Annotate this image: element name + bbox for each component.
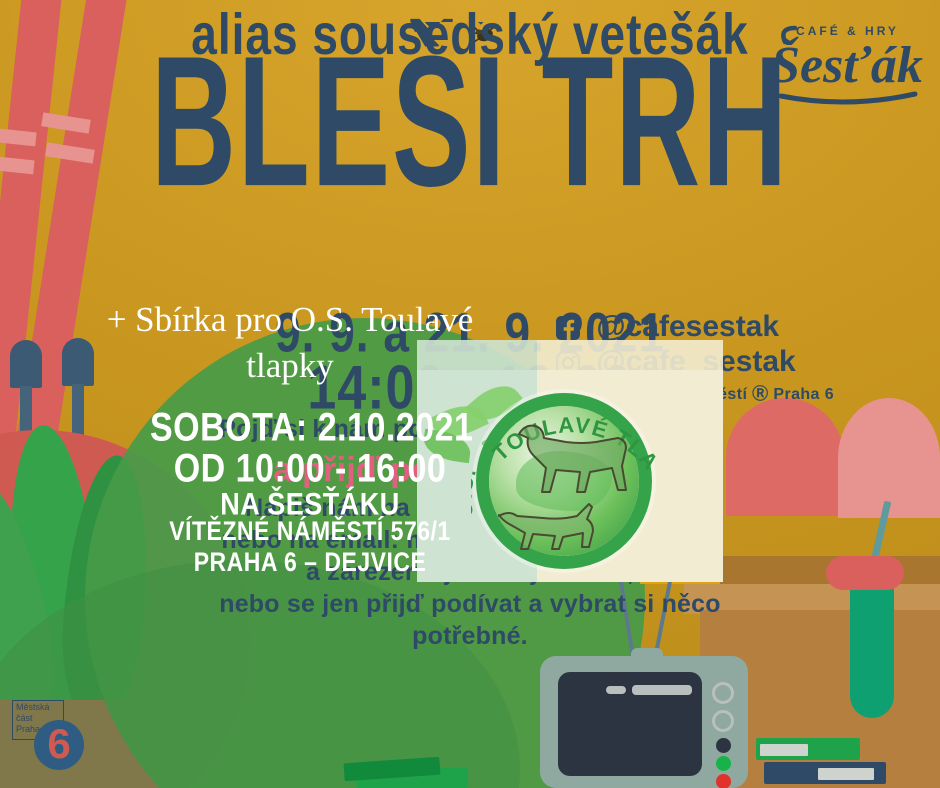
facebook-icon xyxy=(556,316,580,340)
logo-tagline: CAFÉ & HRY xyxy=(765,24,930,38)
svg-text:Šesťák: Šesťák xyxy=(771,36,923,94)
event-city: PRAHA 6 – DEJVICE xyxy=(150,546,470,578)
prague-6-city-badge: Městská část Praha 6 xyxy=(12,700,84,774)
badge-number: 6 xyxy=(34,720,84,770)
sestak-logo: CAFÉ & HRY Šesťák xyxy=(765,8,930,118)
event-date: SOBOTA: 2.10.2021 xyxy=(150,405,470,451)
svg-text:O.S.: O.S. xyxy=(471,464,481,518)
facebook-handle[interactable]: @cafesestak xyxy=(556,310,779,344)
serif-line-2: tlapky xyxy=(246,346,333,385)
flea-market-poster: BLEŠI TRH alias sousedský vetešák 9. 9. … xyxy=(0,0,940,788)
body-line-7: nebo se jen přijď podívat a vybrat si ně… xyxy=(219,590,721,618)
body-line-8: potřebné. xyxy=(412,622,528,650)
charity-collection-note: + Sbírka pro O.S. Toulavé tlapky xyxy=(40,297,540,389)
badge-line-1: Městská xyxy=(16,702,66,713)
serif-line-1: + Sbírka pro O.S. Toulavé xyxy=(107,300,474,339)
event-address: VÍTĚZNÉ NÁMĚSTÍ 576/1 xyxy=(150,515,470,547)
facebook-handle-text: @cafesestak xyxy=(596,310,779,343)
cat-icon xyxy=(493,482,623,554)
